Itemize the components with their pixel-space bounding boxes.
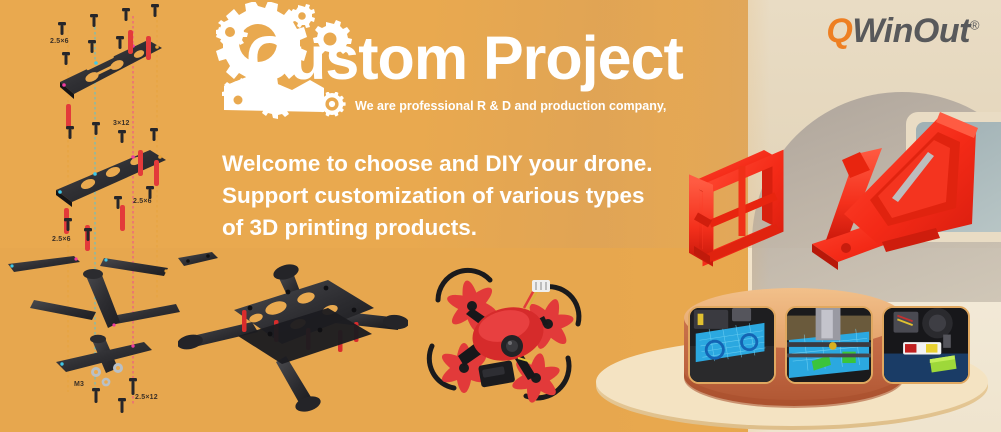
body-copy-line-2: Support customization of various types — [222, 180, 653, 212]
logo-wordmark: WinOut — [852, 12, 970, 50]
dimension-label: 2.5×6 — [52, 236, 71, 243]
body-copy-line-3: of 3D printing products. — [222, 212, 653, 244]
logo-letter-q: Q — [826, 12, 852, 50]
printer-photo-panel[interactable] — [785, 306, 873, 384]
promotional-banner: Custom Project We are professional R & D… — [0, 0, 1001, 432]
brand-logo: QWinOut® — [826, 14, 979, 48]
printed-cage — [694, 150, 780, 264]
dimension-label: 2.5×6 — [50, 38, 69, 45]
assembled-drone-frame — [178, 252, 408, 420]
printed-camera-mount — [812, 112, 978, 270]
dimension-label: 3×12 — [113, 120, 130, 127]
page-title: Custom Project — [246, 28, 683, 89]
printer-photo-panel[interactable] — [688, 306, 776, 384]
micro-fpv-drone — [420, 262, 610, 410]
printer-photo-panels — [688, 306, 978, 384]
body-copy-line-1: Welcome to choose and DIY your drone. — [222, 148, 653, 180]
body-copy: Welcome to choose and DIY your drone. Su… — [222, 148, 653, 244]
red-3d-printed-parts — [684, 96, 984, 311]
registered-mark-icon: ® — [970, 18, 979, 33]
dimension-label: 2.5×12 — [135, 394, 158, 401]
dimension-label: 2.5×6 — [133, 198, 152, 205]
printer-photo-panel[interactable] — [882, 306, 970, 384]
subtitle-row: We are professional R & D and production… — [318, 92, 666, 120]
subtitle-text: We are professional R & D and production… — [355, 99, 666, 113]
dimension-label: M3 — [74, 381, 84, 388]
gear-icon — [318, 92, 346, 120]
